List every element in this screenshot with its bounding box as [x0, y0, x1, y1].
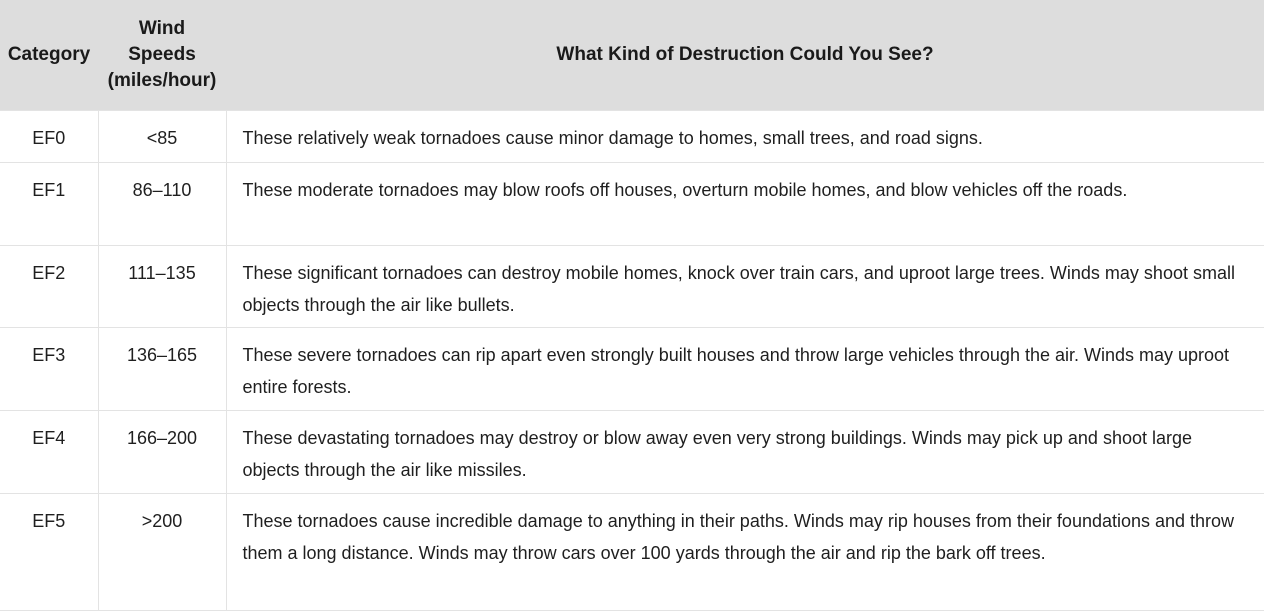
cell-wind-speeds: 136–165 — [98, 327, 226, 410]
table-row: EF3 136–165 These severe tornadoes can r… — [0, 327, 1264, 410]
cell-destruction: These devastating tornadoes may destroy … — [226, 410, 1264, 493]
tornado-scale-table-container: Category Wind Speeds (miles/hour) What K… — [0, 0, 1264, 611]
cell-destruction: These moderate tornadoes may blow roofs … — [226, 162, 1264, 245]
cell-destruction: These significant tornadoes can destroy … — [226, 245, 1264, 327]
cell-wind-speeds: 86–110 — [98, 162, 226, 245]
cell-category: EF5 — [0, 493, 98, 610]
tornado-scale-table: Category Wind Speeds (miles/hour) What K… — [0, 0, 1264, 611]
column-header-wind-speeds-line1: Wind — [104, 16, 220, 42]
table-row: EF1 86–110 These moderate tornadoes may … — [0, 162, 1264, 245]
table-row: EF5 >200 These tornadoes cause incredibl… — [0, 493, 1264, 610]
table-row: EF2 111–135 These significant tornadoes … — [0, 245, 1264, 327]
table-header-row: Category Wind Speeds (miles/hour) What K… — [0, 0, 1264, 110]
cell-destruction: These severe tornadoes can rip apart eve… — [226, 327, 1264, 410]
cell-wind-speeds: <85 — [98, 110, 226, 162]
cell-wind-speeds: 111–135 — [98, 245, 226, 327]
cell-destruction: These relatively weak tornadoes cause mi… — [226, 110, 1264, 162]
column-header-wind-speeds-line3: (miles/hour) — [104, 68, 220, 94]
cell-category: EF0 — [0, 110, 98, 162]
column-header-destruction: What Kind of Destruction Could You See? — [226, 0, 1264, 110]
cell-category: EF1 — [0, 162, 98, 245]
column-header-wind-speeds: Wind Speeds (miles/hour) — [98, 0, 226, 110]
column-header-category: Category — [0, 0, 98, 110]
cell-destruction: These tornadoes cause incredible damage … — [226, 493, 1264, 610]
table-header: Category Wind Speeds (miles/hour) What K… — [0, 0, 1264, 110]
cell-category: EF2 — [0, 245, 98, 327]
table-row: EF4 166–200 These devastating tornadoes … — [0, 410, 1264, 493]
cell-category: EF3 — [0, 327, 98, 410]
table-row: EF0 <85 These relatively weak tornadoes … — [0, 110, 1264, 162]
column-header-wind-speeds-line2: Speeds — [104, 42, 220, 68]
cell-wind-speeds: 166–200 — [98, 410, 226, 493]
table-body: EF0 <85 These relatively weak tornadoes … — [0, 110, 1264, 610]
cell-category: EF4 — [0, 410, 98, 493]
cell-wind-speeds: >200 — [98, 493, 226, 610]
